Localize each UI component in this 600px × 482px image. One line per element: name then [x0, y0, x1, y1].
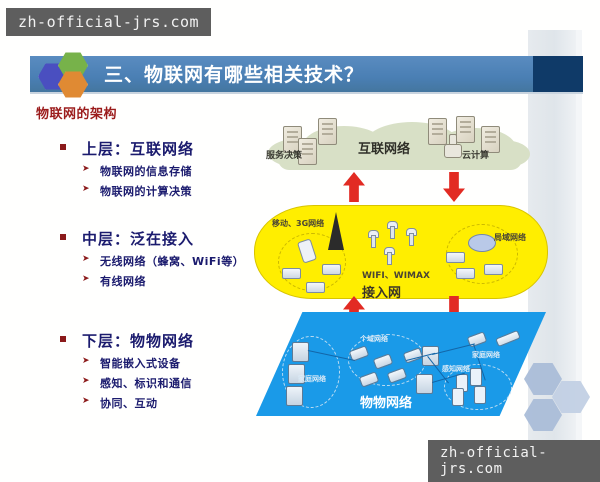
outline-main-label: 上层：互联网络: [60, 138, 194, 159]
cell-tower-icon: [328, 212, 344, 250]
outline-main-text: 中层：泛在接入: [82, 230, 194, 248]
outline-main-text: 上层：互联网络: [82, 140, 194, 158]
arrow-bullet-icon: ➤: [82, 376, 90, 386]
arrow-down-icon: [443, 172, 465, 202]
outline-sub-text: 感知、标识和通信: [100, 377, 192, 390]
outline-sub-text: 智能嵌入式设备: [100, 357, 181, 370]
outline-sub-item: ➤ 智能嵌入式设备: [60, 355, 194, 371]
outline-sub-item: ➤ 物联网的计算决策: [60, 183, 194, 199]
arrow-bullet-icon: ➤: [82, 254, 90, 264]
lan-hub-icon: [468, 234, 496, 252]
title-underline: [30, 92, 583, 94]
label-mobile-3g-network: 移动、3G网络: [272, 218, 324, 229]
device-node-icon: [282, 268, 301, 279]
slide-canvas: 三、物联网有哪些相关技术？ 物联网的架构 上层：互联网络 ➤ 物联网的信息存储 …: [0, 0, 600, 480]
wifi-antenna-icon: [368, 230, 377, 246]
square-bullet-icon: [60, 234, 66, 240]
label-access-network: 接入网: [362, 282, 401, 301]
architecture-diagram: 服务决策 互联网络 云计算: [250, 100, 550, 435]
arrow-bullet-icon: ➤: [82, 274, 90, 284]
server-icon: [318, 118, 337, 145]
device-node-icon: [484, 264, 503, 275]
label-cloud-computing: 云计算: [462, 148, 489, 161]
watermark-bottom-right: zh-official-jrs.com: [428, 440, 600, 482]
antenna-rod: [390, 226, 395, 239]
outline-block-lower: 下层：物物网络 ➤ 智能嵌入式设备 ➤ 感知、标识和通信 ➤ 协同、互动: [60, 330, 194, 411]
arrow-bullet-icon: ➤: [82, 184, 90, 194]
plug-icon: [444, 134, 460, 156]
thing-network-plane: 家庭网络 个域网络 家庭网络 感知网络 物物网络: [256, 312, 546, 422]
outline-sub-text: 协同、互动: [100, 397, 158, 410]
page-title: 三、物联网有哪些相关技术？: [104, 60, 524, 90]
label-service-decision: 服务决策: [266, 148, 302, 161]
antenna-rod: [371, 235, 376, 248]
outline-main-label: 中层：泛在接入: [60, 228, 244, 249]
sensor-node-icon: [470, 368, 482, 386]
label-wifi-wimax: WIFI、WIMAX: [362, 268, 430, 281]
outline-sub-item: ➤ 感知、标识和通信: [60, 375, 194, 391]
wifi-antenna-icon: [387, 221, 396, 237]
outline-block-middle: 中层：泛在接入 ➤ 无线网络（蜂窝、WiFi等） ➤ 有线网络: [60, 228, 244, 289]
outline-sub-item: ➤ 无线网络（蜂窝、WiFi等）: [60, 253, 244, 269]
sensor-node-icon: [452, 388, 464, 406]
arrow-bullet-icon: ➤: [82, 396, 90, 406]
label-personal-network: 个域网络: [360, 334, 388, 344]
label-sensing-network: 感知网络: [442, 364, 470, 374]
label-home-network-2: 家庭网络: [472, 350, 500, 360]
outline-sub-item: ➤ 有线网络: [60, 273, 244, 289]
outline-sub-text: 无线网络（蜂窝、WiFi等）: [100, 255, 244, 268]
square-bullet-icon: [60, 336, 66, 342]
outline-main-label: 下层：物物网络: [60, 330, 194, 351]
outline-block-upper: 上层：互联网络 ➤ 物联网的信息存储 ➤ 物联网的计算决策: [60, 138, 194, 199]
device-node-icon: [446, 252, 465, 263]
device-node-icon: [322, 264, 341, 275]
watermark-top-left: zh-official-jrs.com: [6, 8, 211, 36]
outline-sub-text: 有线网络: [100, 275, 146, 288]
title-bar-accent: [533, 56, 583, 92]
plug-body: [444, 144, 462, 158]
antenna-rod: [387, 252, 392, 265]
sensor-node-icon: [474, 386, 486, 404]
label-internet-network: 互联网络: [358, 138, 410, 157]
device-node-icon: [306, 282, 325, 293]
wifi-antenna-icon: [406, 228, 415, 244]
hexagon-logo: [36, 52, 104, 98]
label-home-network: 家庭网络: [298, 374, 326, 384]
wifi-antenna-icon: [384, 247, 393, 263]
antenna-rod: [409, 233, 414, 246]
outline-sub-text: 物联网的信息存储: [100, 165, 192, 178]
label-lan: 局域网络: [494, 232, 526, 243]
arrow-up-icon: [343, 172, 365, 202]
computer-icon: [286, 386, 303, 406]
section-subtitle: 物联网的架构: [36, 103, 117, 122]
outline-sub-item: ➤ 协同、互动: [60, 395, 194, 411]
arrow-bullet-icon: ➤: [82, 356, 90, 366]
computer-icon: [416, 374, 433, 394]
arrow-bullet-icon: ➤: [82, 164, 90, 174]
outline-sub-text: 物联网的计算决策: [100, 185, 192, 198]
outline-sub-item: ➤ 物联网的信息存储: [60, 163, 194, 179]
square-bullet-icon: [60, 144, 66, 150]
label-thing-network: 物物网络: [360, 392, 412, 411]
device-node-icon: [456, 268, 475, 279]
outline-main-text: 下层：物物网络: [82, 332, 194, 350]
computer-icon: [292, 342, 309, 362]
